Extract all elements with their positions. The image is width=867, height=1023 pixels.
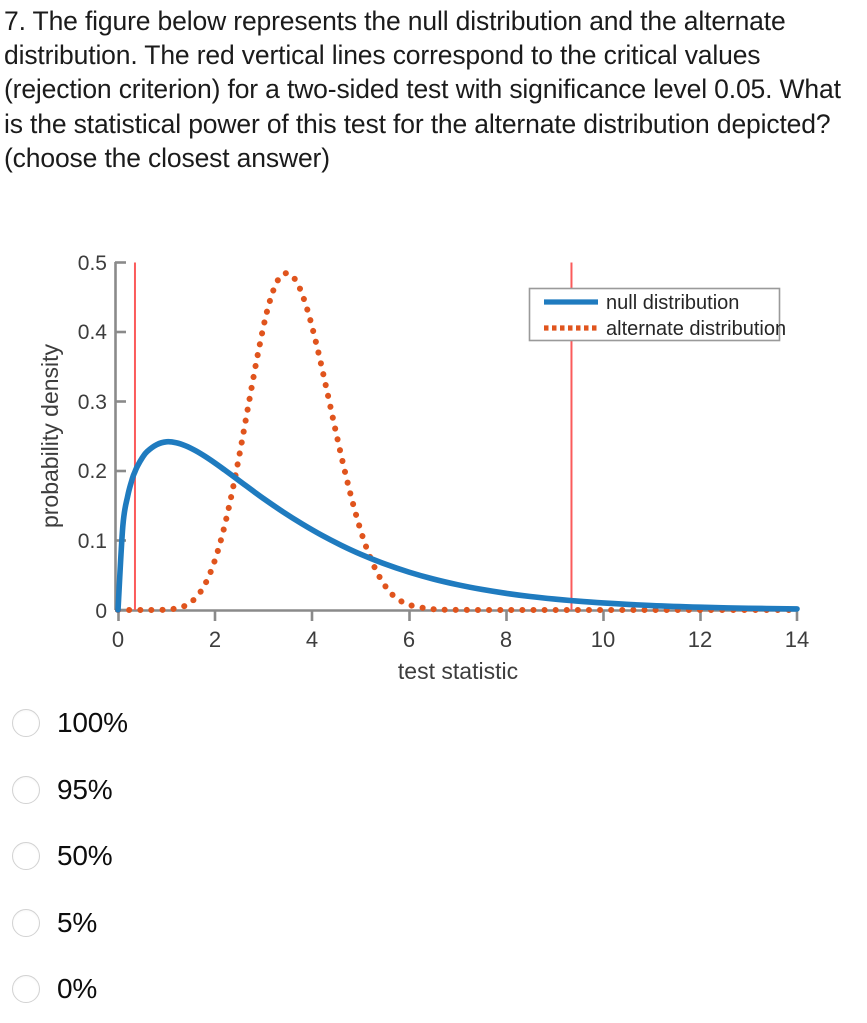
question-block: 7. The figure below represents the null … (4, 4, 860, 175)
radio-button-icon[interactable] (12, 842, 40, 870)
y-tick-label: 0 (95, 600, 107, 623)
legend-label-null: null distribution (606, 292, 739, 314)
null-distribution-curve (118, 442, 797, 610)
y-tick-label: 0.2 (78, 460, 107, 483)
x-tick-label: 14 (785, 627, 809, 652)
x-tick-label: 6 (403, 627, 415, 652)
answer-option-row[interactable]: 5% (0, 890, 500, 957)
legend-label-alternate: alternate distribution (606, 318, 786, 340)
radio-button-icon[interactable] (12, 776, 40, 804)
chart-legend: null distribution alternate distribution (530, 289, 787, 341)
y-tick-labels: 0.5 0.4 0.3 0.2 0.1 0 (78, 252, 108, 623)
answer-option-label: 95% (57, 776, 112, 804)
x-tick-label: 2 (209, 627, 221, 652)
y-tick-label: 0.5 (78, 252, 107, 275)
x-axis-title: test statistic (398, 658, 518, 683)
answer-option-row[interactable]: 50% (0, 823, 500, 890)
y-tick-label: 0.4 (78, 321, 108, 344)
x-tick-label: 12 (688, 627, 712, 652)
answer-option-label: 0% (57, 975, 97, 1003)
chart-svg: 0.5 0.4 0.3 0.2 0.1 0 0 2 4 6 8 10 12 (0, 243, 867, 683)
y-axis-title: probability density (37, 343, 63, 528)
answer-options-list: 100% 95% 50% 5% 0% (0, 690, 500, 1023)
answer-option-label: 5% (57, 909, 97, 937)
x-tick-labels: 0 2 4 6 8 10 12 14 (112, 627, 809, 652)
distribution-figure: 0.5 0.4 0.3 0.2 0.1 0 0 2 4 6 8 10 12 (0, 243, 867, 683)
radio-button-icon[interactable] (12, 975, 40, 1003)
question-text: 7. The figure below represents the null … (4, 4, 860, 175)
radio-button-icon[interactable] (12, 909, 40, 937)
answer-option-row[interactable]: 100% (0, 690, 500, 757)
radio-button-icon[interactable] (12, 709, 40, 737)
x-tick-label: 4 (306, 627, 318, 652)
x-tick-label: 10 (591, 627, 615, 652)
answer-option-label: 50% (57, 842, 112, 870)
answer-option-row[interactable]: 95% (0, 757, 500, 824)
answer-option-label: 100% (57, 709, 128, 737)
y-tick-label: 0.3 (78, 391, 107, 414)
x-tick-label: 0 (112, 627, 124, 652)
x-tick-label: 8 (500, 627, 512, 652)
answer-option-row[interactable]: 0% (0, 956, 500, 1023)
y-tick-label: 0.1 (78, 530, 107, 553)
